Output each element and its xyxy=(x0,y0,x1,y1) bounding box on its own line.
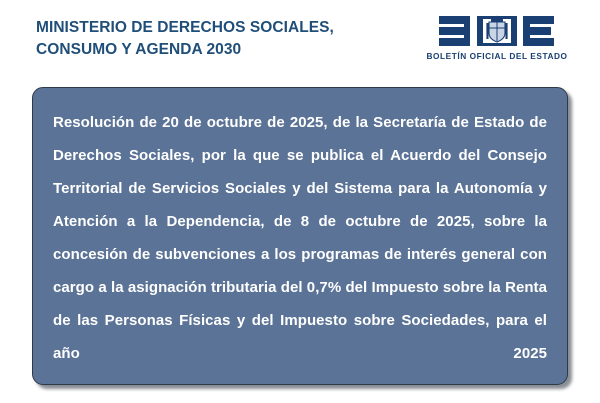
ministry-title: MINISTERIO DE DERECHOS SOCIALES, CONSUMO… xyxy=(36,17,416,61)
boe-logo: BOLETÍN OFICIAL DEL ESTADO xyxy=(414,14,580,72)
ministry-title-line-1: MINISTERIO DE DERECHOS SOCIALES, xyxy=(36,17,416,39)
ministry-title-line-2: CONSUMO Y AGENDA 2030 xyxy=(36,39,416,61)
boe-wordmark-icon xyxy=(437,14,557,48)
document-page: MINISTERIO DE DERECHOS SOCIALES, CONSUMO… xyxy=(0,0,600,400)
boe-caption: BOLETÍN OFICIAL DEL ESTADO xyxy=(414,51,580,61)
resolution-callout-box: Resolución de 20 de octubre de 2025, de … xyxy=(32,87,568,385)
document-header: MINISTERIO DE DERECHOS SOCIALES, CONSUMO… xyxy=(0,0,600,87)
resolution-text: Resolución de 20 de octubre de 2025, de … xyxy=(53,106,547,403)
